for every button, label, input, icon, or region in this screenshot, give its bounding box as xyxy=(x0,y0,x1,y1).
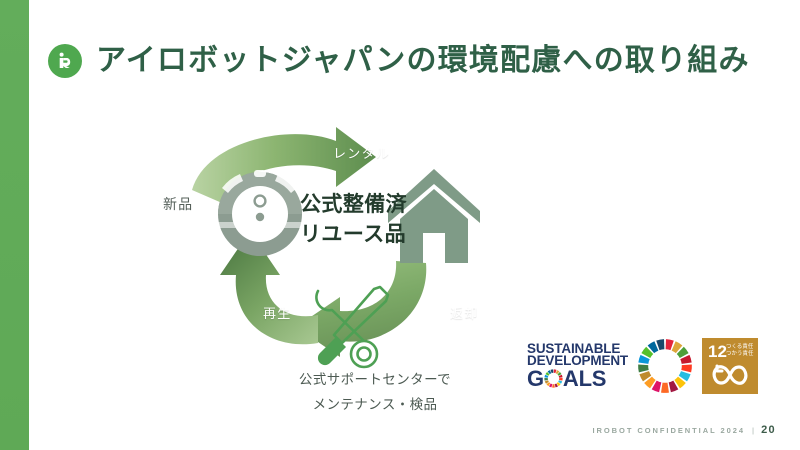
footer-confidential: IROBOT CONFIDENTIAL 2024 xyxy=(592,426,745,435)
robot-vacuum-icon xyxy=(216,170,304,256)
sdg-goals-o-wheel-icon xyxy=(544,369,563,388)
arrow-label-return: 返却 xyxy=(450,303,479,322)
sdg-goal-12-tile: 12 つくる責任 つかう責任 xyxy=(702,338,758,394)
sdg-wordmark-line3: G ALS xyxy=(527,369,628,389)
center-label: 公式整備済 リユース品 xyxy=(300,190,450,250)
sdg-goal-text: つくる責任 つかう責任 xyxy=(726,344,754,359)
slide-header: アイロボットジャパンの環境配慮への取り組み xyxy=(48,44,750,78)
page-title: アイロボットジャパンの環境配慮への取り組み xyxy=(96,46,750,76)
arrow-label-rental: レンタル xyxy=(333,143,390,162)
sdg-logo-group: SUSTAINABLE DEVELOPMENT G ALS 12 つくる責任 つ… xyxy=(527,338,758,394)
sdg-goal-text-line2: つかう責任 xyxy=(726,351,754,357)
diagram-caption: 公式サポートセンターで メンテナンス・検品 xyxy=(250,368,500,418)
infinity-loop-icon xyxy=(710,362,750,393)
diagram-caption-line1: 公式サポートセンターで xyxy=(250,368,500,393)
footer-separator: | xyxy=(752,426,754,435)
sdg-goal-number: 12 xyxy=(708,343,727,360)
slide-footer: IROBOT CONFIDENTIAL 2024 | 20 xyxy=(592,424,776,436)
diagram-caption-line2: メンテナンス・検品 xyxy=(250,393,500,418)
sdg-goals-g: G xyxy=(527,369,544,389)
center-label-line2: リユース品 xyxy=(300,220,450,250)
left-accent-bar xyxy=(0,0,29,450)
sdg-color-wheel-icon xyxy=(637,338,693,394)
center-label-line1: 公式整備済 xyxy=(300,190,450,220)
label-new-product: 新品 xyxy=(163,194,193,214)
sdg-wordmark: SUSTAINABLE DEVELOPMENT G ALS xyxy=(527,343,628,389)
irobot-logo-icon xyxy=(48,44,82,78)
footer-page-number: 20 xyxy=(761,424,776,436)
arrow-label-reuse: 再生 xyxy=(263,303,292,322)
sdg-goals-als: ALS xyxy=(563,369,606,389)
sdg-goal-text-line1: つくる責任 xyxy=(726,344,753,350)
